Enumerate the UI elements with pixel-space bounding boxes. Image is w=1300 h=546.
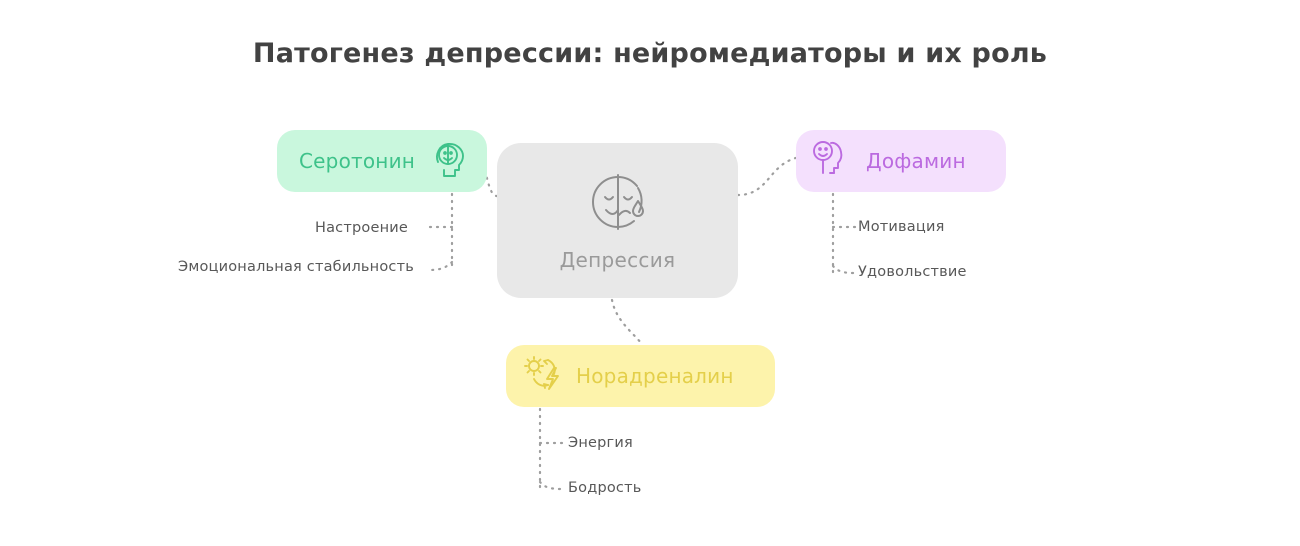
center-node-depression[interactable]: Депрессия: [497, 143, 738, 298]
sub-label-energia: Энергия: [568, 435, 768, 451]
split-face-happy-sad-tear-icon: [586, 170, 650, 234]
connector-serotonin-sub-2: [428, 262, 452, 270]
dofamin-label: Дофамин: [866, 149, 966, 173]
center-node-label: Депрессия: [560, 248, 676, 272]
branch-node-dofamin[interactable]: Дофамин: [796, 130, 1006, 192]
connector-dofamin-sub-2: [833, 266, 854, 273]
connector-center-dofamin: [738, 157, 800, 195]
connector-center-noradrenalin: [612, 300, 643, 345]
connector-noradrenalin-sub-2: [540, 482, 562, 489]
branch-node-serotonin[interactable]: Серотонин: [277, 130, 487, 192]
head-with-smiley-face-icon: [431, 141, 469, 181]
serotonin-label: Серотонин: [299, 149, 415, 173]
sub-label-udovolstvie: Удовольствие: [858, 264, 1058, 280]
sun-arrow-lightning-bolt-icon: [520, 355, 564, 397]
diagram-canvas: Патогенез депрессии: нейромедиаторы и их…: [0, 0, 1300, 546]
sub-label-nastroenie: Настроение: [312, 220, 408, 236]
head-profile-happy-face-icon: [810, 140, 854, 182]
noradrenalin-label: Норадреналин: [576, 364, 734, 388]
sub-label-bodrost: Бодрость: [568, 480, 768, 496]
sub-label-motivacia: Мотивация: [858, 219, 1058, 235]
sub-label-emotional-stability: Эмоциональная стабильность: [178, 259, 408, 275]
branch-node-noradrenalin[interactable]: Норадреналин: [506, 345, 775, 407]
page-title: Патогенез депрессии: нейромедиаторы и их…: [0, 38, 1300, 69]
